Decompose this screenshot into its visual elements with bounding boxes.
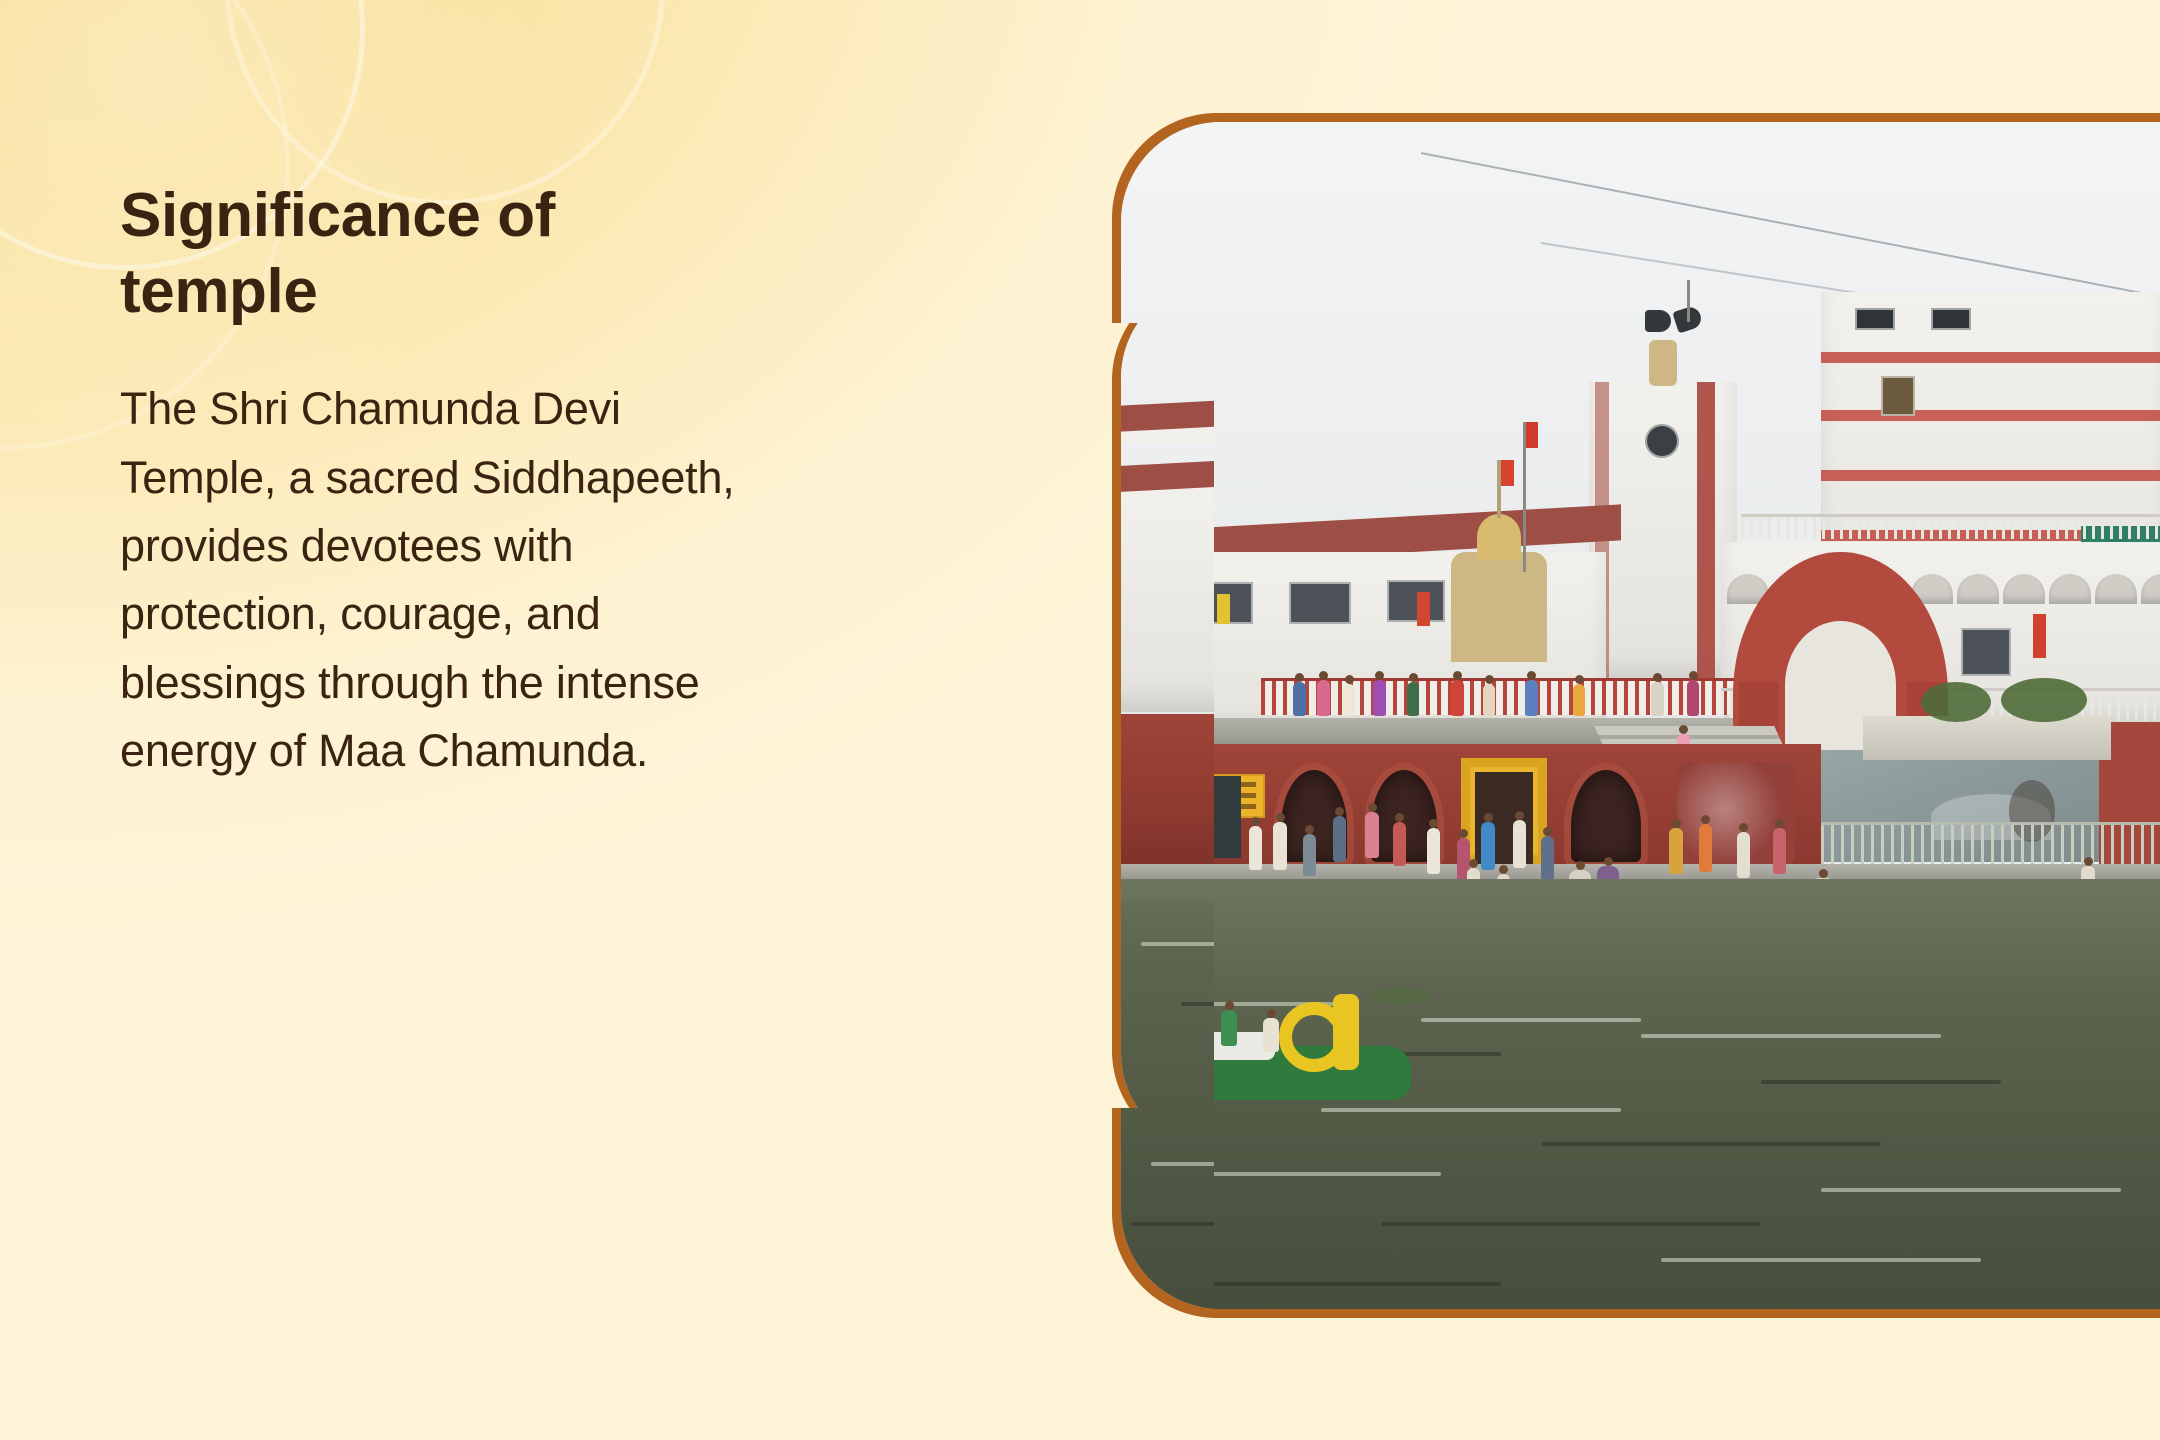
person-on-steps — [1773, 828, 1786, 874]
person — [1293, 682, 1306, 716]
balcony-flag-icon — [2033, 614, 2046, 658]
shrub — [2001, 678, 2087, 722]
fence-railing — [1821, 822, 2160, 869]
person — [1373, 680, 1386, 716]
tower-finial — [1649, 340, 1677, 386]
person-on-steps — [1365, 812, 1379, 858]
shrub — [1921, 682, 1991, 722]
person — [1451, 680, 1464, 716]
temple-photograph — [1121, 122, 2160, 1309]
person-on-steps — [1333, 816, 1346, 862]
text-column: Significance of temple The Shri Chamunda… — [120, 178, 780, 786]
flag-icon-left — [1417, 592, 1430, 626]
photo-frame — [1112, 113, 2160, 1318]
person-on-steps — [1249, 826, 1262, 870]
saffron-flag-icon — [1501, 460, 1514, 486]
person-on-steps — [1303, 834, 1316, 876]
person — [1573, 684, 1585, 716]
person-on-steps — [1393, 822, 1406, 866]
person — [1651, 682, 1664, 716]
person-on-steps — [1427, 828, 1440, 874]
photo-scene — [1214, 122, 2160, 1309]
boat-passenger — [1263, 1018, 1279, 1052]
person — [1483, 684, 1495, 716]
golden-shikhara — [1451, 552, 1547, 662]
red-flag-icon — [1525, 422, 1538, 448]
upper-railing — [1741, 514, 2160, 539]
person-on-steps — [1737, 832, 1750, 878]
body-paragraph: The Shri Chamunda Devi Temple, a sacred … — [120, 375, 780, 785]
retaining-wall — [1863, 716, 2111, 760]
boat-passenger — [1221, 1010, 1237, 1046]
flag-pole — [1523, 422, 1526, 572]
person — [1317, 680, 1330, 716]
person-on-steps — [1541, 836, 1554, 880]
person — [1687, 680, 1699, 716]
loudspeaker-icon — [1645, 310, 1671, 332]
antenna-pole — [1687, 280, 1690, 322]
page-title: Significance of temple — [120, 178, 780, 329]
person-on-steps — [1669, 828, 1683, 874]
boat-yellow-fin — [1333, 994, 1359, 1070]
person — [1407, 682, 1419, 716]
person-on-steps — [1699, 824, 1712, 872]
flag-icon-yellow — [1217, 594, 1230, 624]
person-on-steps — [1481, 822, 1495, 870]
person — [1343, 684, 1355, 716]
pedal-boat — [1214, 984, 1441, 1124]
yellow-framed-doorway — [1461, 758, 1547, 864]
dark-doorway — [1214, 776, 1241, 858]
photo-segment-main — [1214, 122, 2160, 1309]
person-on-steps — [1513, 820, 1526, 868]
person — [1525, 680, 1538, 716]
person-on-steps — [1273, 822, 1287, 870]
water-plant — [1371, 988, 1431, 1004]
shikhara-top — [1477, 514, 1521, 560]
